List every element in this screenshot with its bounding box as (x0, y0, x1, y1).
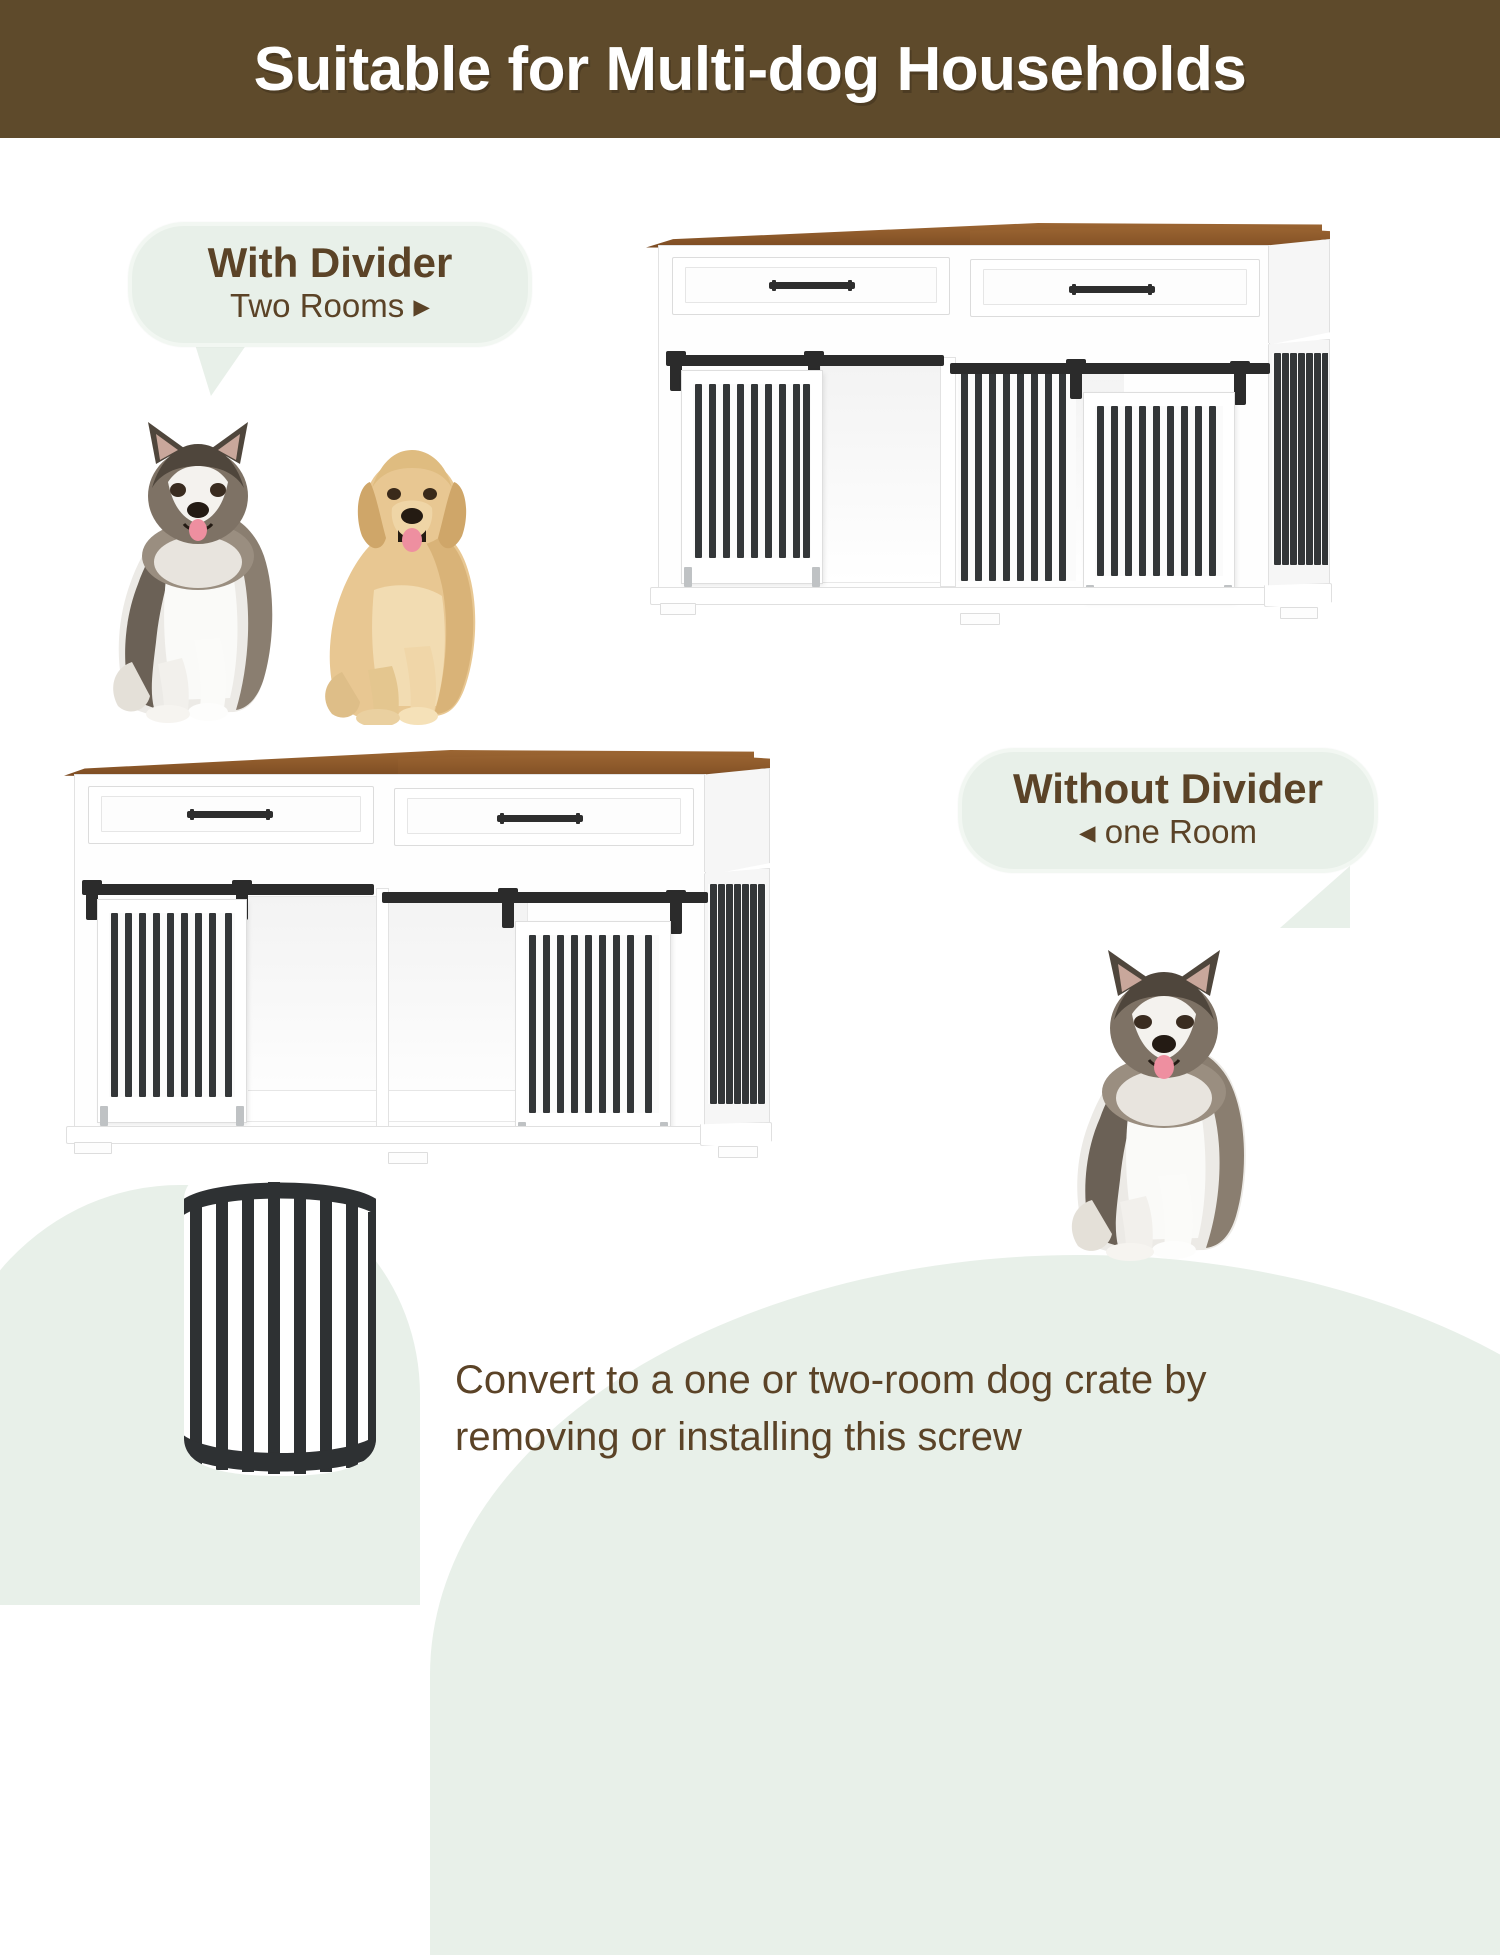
dog-malamute-left (88, 378, 308, 723)
side-panel-upper-right (1268, 239, 1330, 345)
drawer-left-2[interactable] (88, 786, 374, 844)
rail-roller-2-1 (86, 884, 98, 920)
room-right-inner-bars (958, 367, 1076, 581)
callout-with-divider: With Divider Two Rooms ▸ (128, 222, 532, 347)
sliding-door-right-2-bars (527, 935, 659, 1113)
center-divider-wall (940, 357, 956, 587)
callout-without-divider-subtitle: ◂ one Room (996, 813, 1340, 851)
side-panel-upper-right-2 (704, 768, 770, 876)
side-bars-right (1272, 353, 1328, 565)
door-hinge-left-bottom (684, 567, 692, 587)
callout-without-divider-title: Without Divider (996, 766, 1340, 811)
sliding-door-left-2-bars (109, 913, 235, 1097)
sliding-door-right-2[interactable] (516, 922, 670, 1138)
door-hinge-left-2-a (100, 1106, 108, 1126)
rail-roller-2-4 (670, 894, 682, 934)
bubble-tail-without-divider (1280, 866, 1350, 928)
crate-without-divider (58, 742, 858, 1197)
base-plinth-right (1264, 583, 1332, 607)
rail-roller-2-3 (502, 892, 514, 928)
foot-2-right (718, 1146, 758, 1158)
drawer-right-handle[interactable] (1069, 286, 1155, 293)
rail-roller-4 (1234, 365, 1246, 405)
sliding-door-left-bars (693, 384, 811, 558)
sliding-door-left-2[interactable] (98, 900, 246, 1122)
drawer-left[interactable] (672, 257, 950, 315)
caption-line-1: Convert to a one or two-room dog crate b… (455, 1352, 1415, 1409)
dog-malamute-right (1040, 912, 1290, 1262)
drawer-left-2-handle[interactable] (187, 811, 273, 818)
base-plinth (650, 587, 1276, 605)
sliding-rail-right (950, 363, 1270, 374)
crate-bars-closeup-inset (160, 1160, 400, 1480)
sliding-door-left[interactable] (682, 371, 822, 583)
rail-roller-1 (670, 355, 682, 391)
foot-left (660, 603, 696, 615)
sliding-rail-right-2 (382, 892, 708, 903)
drawer-left-handle[interactable] (769, 282, 855, 289)
foot-far-right (1280, 607, 1318, 619)
base-plinth-2-right (700, 1122, 772, 1146)
door-hinge-left-bottom-2 (812, 567, 820, 587)
bottom-caption: Convert to a one or two-room dog crate b… (455, 1352, 1415, 1466)
center-post (376, 888, 389, 1130)
sliding-door-right[interactable] (1084, 393, 1234, 601)
drawer-right[interactable] (970, 259, 1260, 317)
base-plinth-2 (66, 1126, 712, 1144)
callout-with-divider-subtitle: Two Rooms ▸ (166, 287, 494, 325)
caption-line-2: removing or installing this screw (455, 1409, 1415, 1466)
dog-labrador-left (300, 390, 500, 725)
rail-roller-3 (1070, 363, 1082, 399)
drawer-right-2-handle[interactable] (497, 815, 583, 822)
crate-with-divider (640, 215, 1340, 655)
foot-2-left (74, 1142, 112, 1154)
room-left-cavity (820, 365, 942, 583)
sliding-door-right-bars (1095, 406, 1223, 576)
sliding-rail-left-2 (82, 884, 374, 895)
side-bars-right-2 (708, 884, 766, 1104)
drawer-right-2[interactable] (394, 788, 694, 846)
foot-right (960, 613, 1000, 625)
callout-with-divider-title: With Divider (166, 240, 494, 285)
door-hinge-left-2-b (236, 1106, 244, 1126)
callout-without-divider: Without Divider ◂ one Room (958, 748, 1378, 873)
